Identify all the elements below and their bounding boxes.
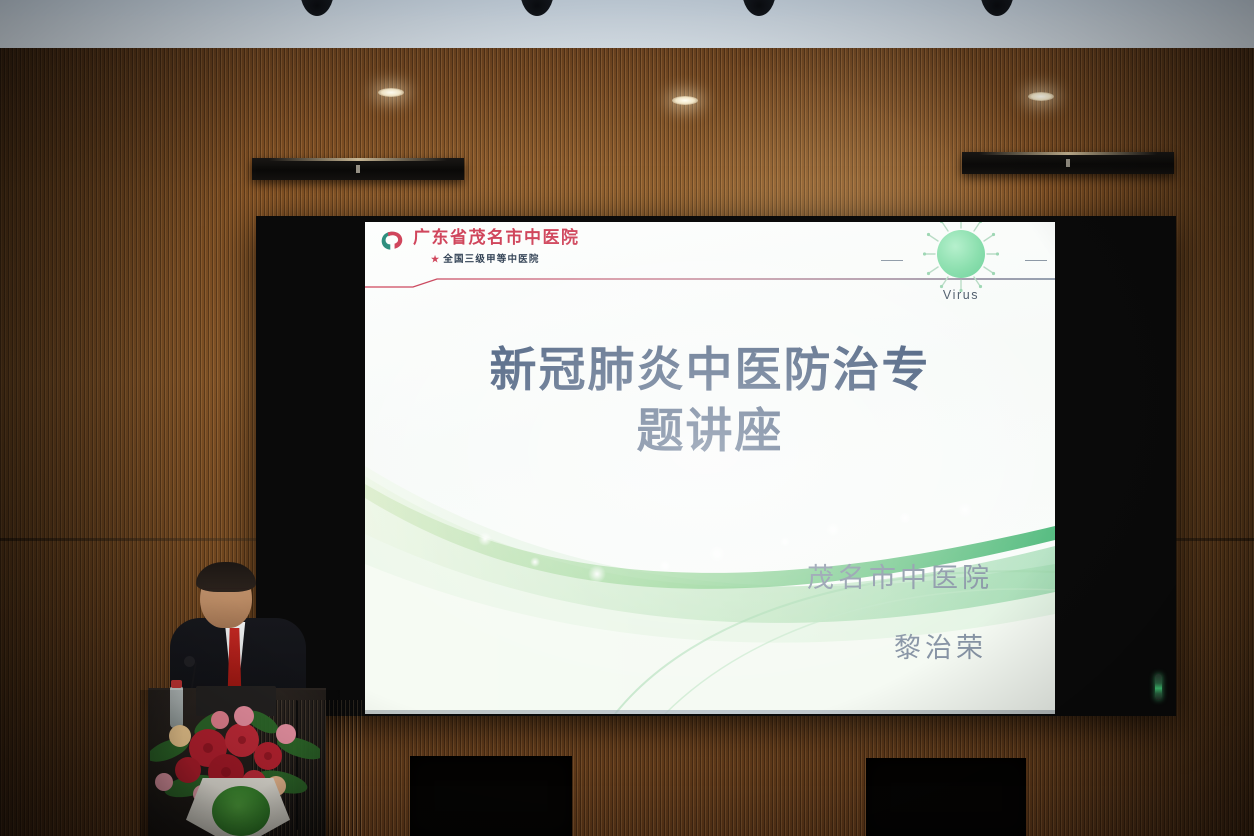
virus-spikes-icon — [923, 222, 999, 292]
speaker-gloss-left — [269, 158, 447, 161]
microphone-icon — [184, 656, 195, 667]
hospital-name: 广东省茂名市中医院 — [413, 228, 580, 248]
display-power-led — [1155, 674, 1162, 700]
presenter-name: 黎治荣 — [807, 626, 987, 665]
lecture-hall-photo: 广东省茂名市中医院 ★全国三级甲等中医院 — [0, 0, 1254, 836]
water-bottle-cap — [171, 680, 182, 688]
virus-badge: Virus — [919, 230, 1003, 302]
ceiling-speaker-right — [962, 152, 1174, 174]
presenter-organization: 茂名市中医院 — [807, 562, 993, 596]
downlight-2 — [672, 96, 698, 105]
star-icon: ★ — [431, 254, 440, 264]
speaker-gloss-right — [979, 152, 1157, 155]
slide-title-line-1: 新冠肺炎中医防治专 — [425, 340, 995, 401]
slide-title-line-2: 题讲座 — [425, 401, 995, 462]
presentation-screen[interactable]: 广东省茂名市中医院 ★全国三级甲等中医院 — [365, 222, 1055, 714]
slide-title: 新冠肺炎中医防治专 题讲座 — [425, 340, 995, 462]
ceiling-speaker-left — [252, 158, 464, 180]
lower-wall-panel-right — [866, 758, 1026, 836]
hospital-accreditation: ★全国三级甲等中医院 — [431, 251, 580, 265]
downlight-3 — [1028, 92, 1054, 101]
virus-dash-right — [1025, 260, 1047, 261]
hospital-logo-icon — [379, 229, 405, 253]
accreditation-text: 全国三级甲等中医院 — [443, 254, 539, 265]
downlight-1 — [378, 88, 404, 97]
vase-leaf-motif — [212, 786, 270, 836]
person-brow — [204, 588, 248, 597]
slide-logo-block: 广东省茂名市中医院 ★全国三级甲等中医院 — [379, 228, 580, 265]
screen-bottom-edge — [365, 710, 1055, 714]
lower-wall-panel-left — [410, 756, 572, 836]
virus-icon — [937, 230, 985, 278]
virus-dash-left — [881, 260, 903, 261]
presenter-block: 茂名市中医院 黎治荣 — [807, 562, 993, 665]
